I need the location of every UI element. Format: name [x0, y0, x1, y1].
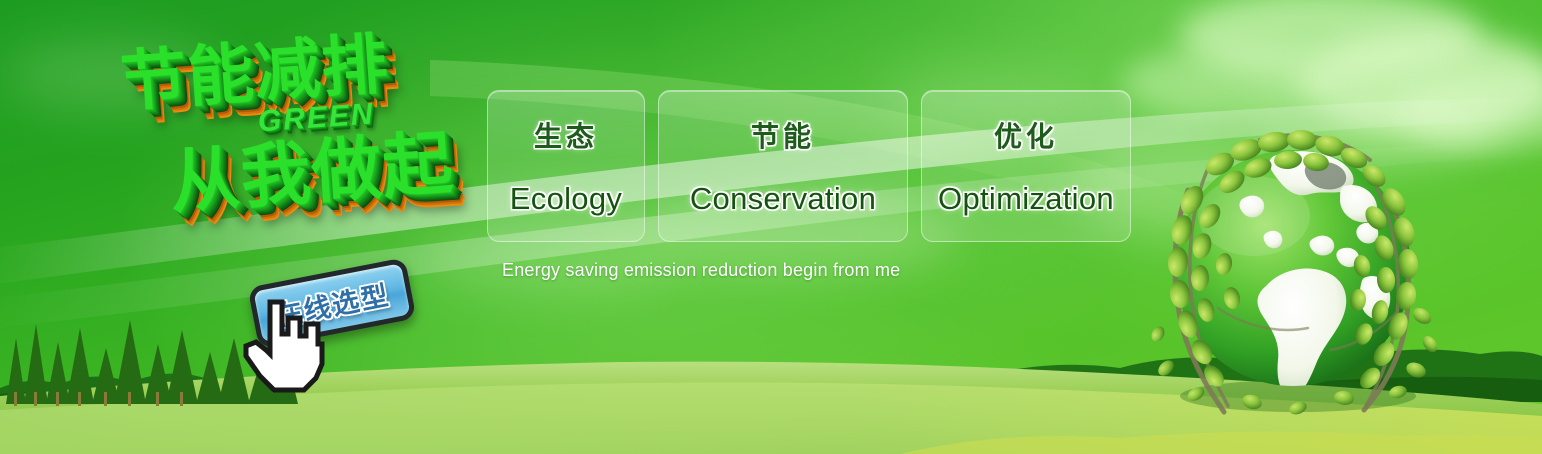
feature-card-conservation[interactable]: 节能 Conservation: [658, 90, 908, 242]
feature-card-cn-label: 节能: [751, 115, 815, 155]
green-energy-banner: 节能减排 GREEN 从我做起 在线选型 生态 Ecology 节能 Conse…: [0, 0, 1542, 454]
feature-card-en-label: Ecology: [510, 181, 622, 217]
feature-card-cn-label: 生态: [534, 115, 598, 155]
feature-card-ecology[interactable]: 生态 Ecology: [487, 90, 645, 242]
feature-card-en-label: Optimization: [938, 181, 1114, 217]
pointer-hand-icon: [240, 298, 326, 394]
online-selection-cta[interactable]: 在线选型: [252, 272, 422, 362]
headline: 节能减排 GREEN 从我做起: [104, 16, 488, 261]
feature-card-cn-label: 优化: [994, 115, 1058, 155]
leafy-globe-icon: [1148, 120, 1438, 420]
feature-card-optimization[interactable]: 优化 Optimization: [921, 90, 1131, 242]
headline-line2: 从我做起: [168, 128, 456, 218]
tagline: Energy saving emission reduction begin f…: [502, 260, 900, 281]
feature-card-en-label: Conservation: [690, 181, 876, 217]
feature-cards: 生态 Ecology 节能 Conservation 优化 Optimizati…: [487, 90, 1131, 242]
